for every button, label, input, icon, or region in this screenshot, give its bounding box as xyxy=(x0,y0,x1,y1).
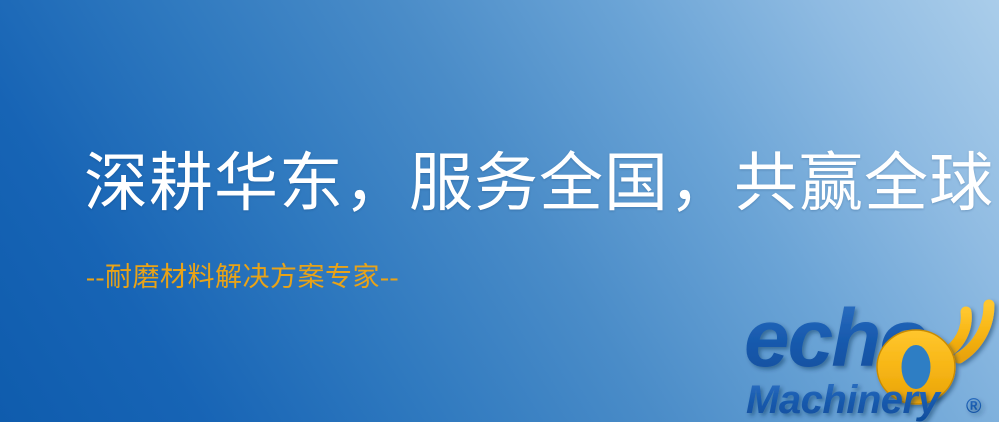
logo-registered-mark: ® xyxy=(966,395,982,418)
echo-machinery-logo[interactable]: echo Machinery ® xyxy=(744,296,999,422)
page-title: 深耕华东，服务全国，共赢全球 xyxy=(84,152,994,216)
logo-graphic: echo Machinery ® xyxy=(744,296,999,422)
hero-banner: 深耕华东，服务全国，共赢全球 --耐磨材料解决方案专家-- xyxy=(0,0,999,422)
page-subtitle: --耐磨材料解决方案专家-- xyxy=(86,264,399,291)
logo-tagline: Machinery xyxy=(746,378,942,422)
